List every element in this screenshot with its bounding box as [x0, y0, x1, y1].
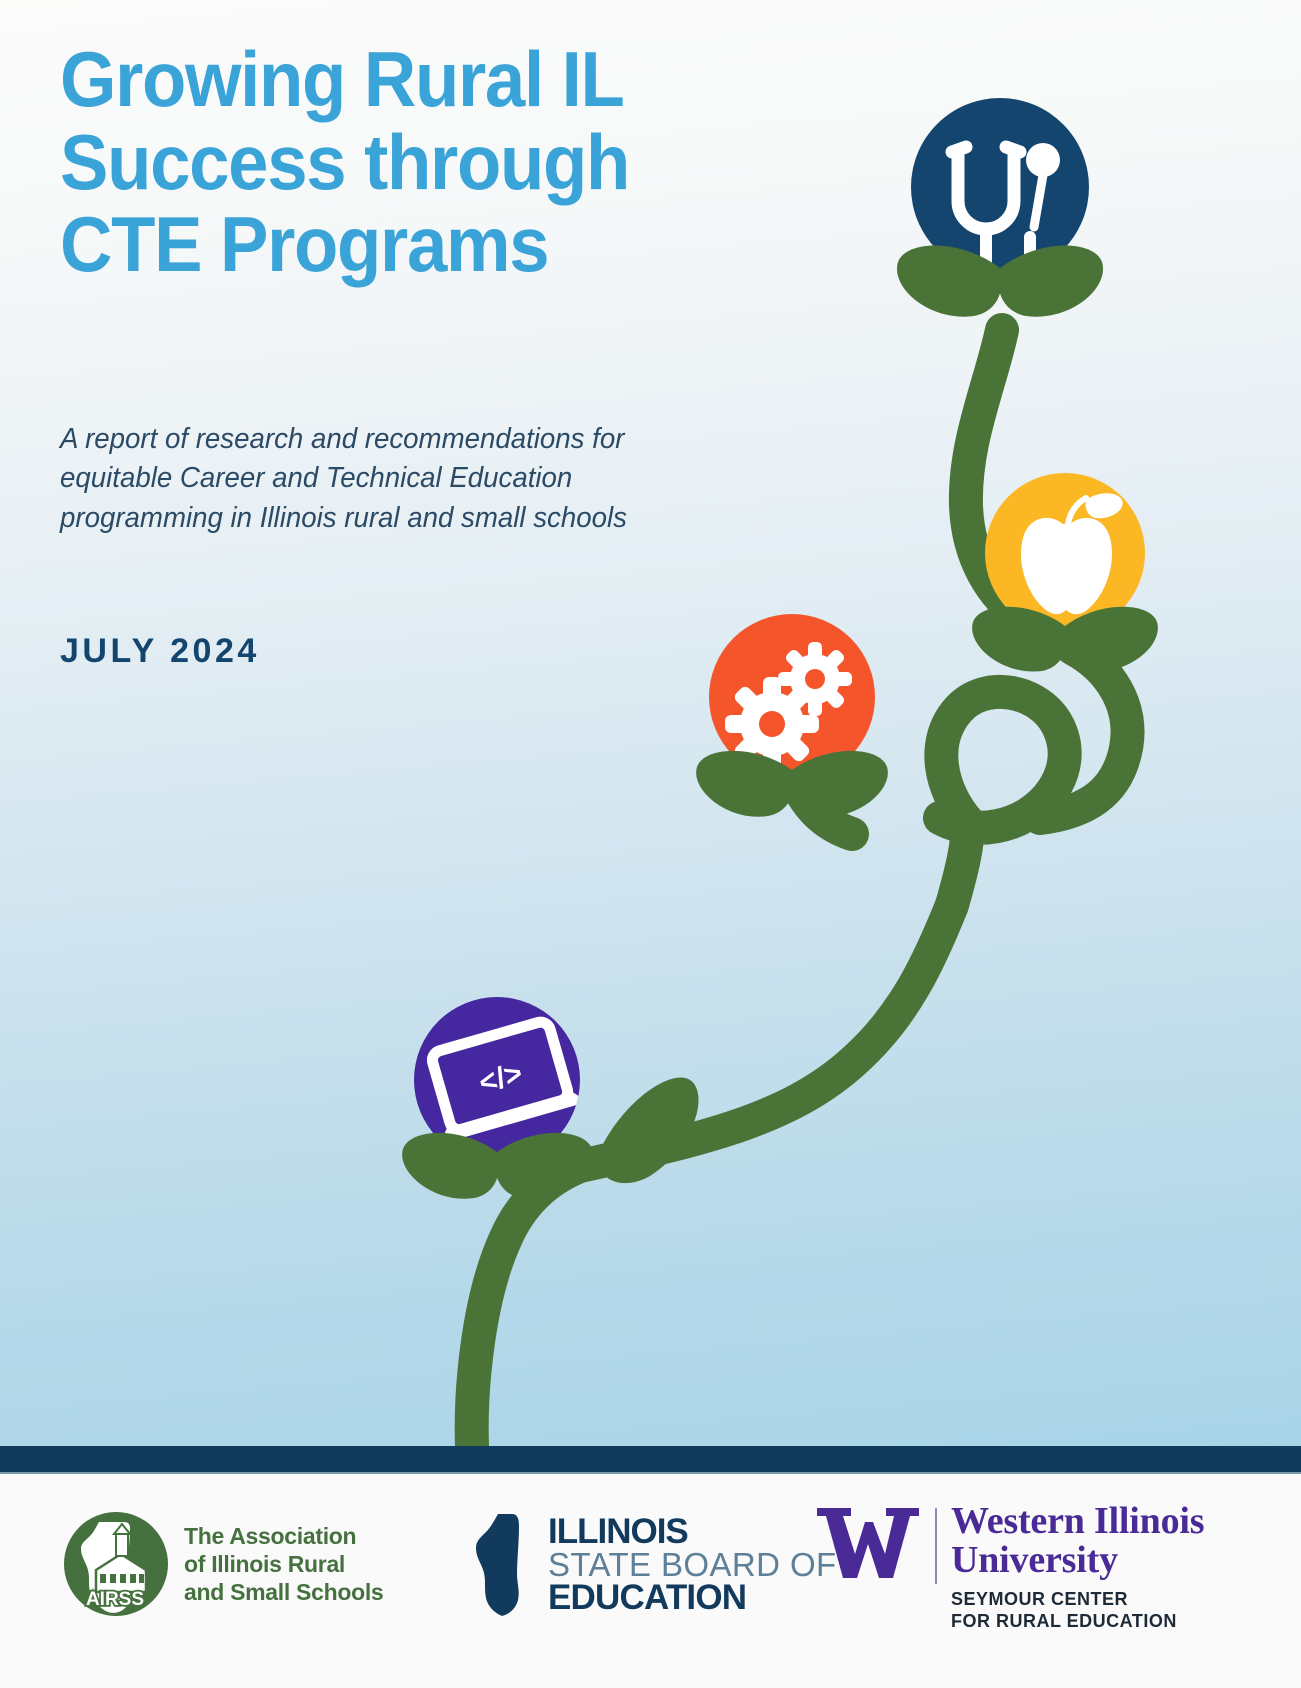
airss-seal-icon: AIRSS [62, 1510, 170, 1618]
wiu-text-block: Western Illinois University SEYMOUR CENT… [951, 1502, 1204, 1633]
isbe-line-3: EDUCATION [548, 1581, 837, 1615]
publication-date: JULY 2024 [60, 632, 260, 671]
logo-wiu[interactable]: Western Illinois University SEYMOUR CENT… [815, 1502, 1204, 1633]
bloom-health-careers [897, 98, 1103, 317]
report-cover-page: </> Growing Rural IL Success through CTE… [0, 0, 1301, 1688]
isbe-line-2: STATE BOARD OF [548, 1549, 837, 1581]
bloom-technology-careers: </> [402, 997, 593, 1199]
wiu-w-icon [815, 1502, 921, 1582]
wiu-divider-rule [935, 1508, 937, 1584]
isbe-wordmark: ILLINOIS STATE BOARD OF EDUCATION [548, 1515, 837, 1615]
logo-airss[interactable]: AIRSS The Association of Illinois Rural … [62, 1510, 383, 1618]
footer-divider-bar [0, 1446, 1301, 1474]
leaf-branch [599, 1077, 699, 1183]
airss-name: The Association of Illinois Rural and Sm… [184, 1522, 383, 1606]
page-subtitle: A report of research and recommendations… [60, 420, 855, 538]
cover-title-block: Growing Rural IL Success through CTE Pro… [60, 38, 860, 286]
wiu-center-name: SEYMOUR CENTER FOR RURAL EDUCATION [951, 1589, 1204, 1633]
logo-isbe[interactable]: ILLINOIS STATE BOARD OF EDUCATION [472, 1512, 837, 1618]
bloom-education-careers [972, 473, 1158, 672]
cover-hero: </> Growing Rural IL Success through CTE… [0, 0, 1301, 1446]
partner-logos: AIRSS The Association of Illinois Rural … [0, 1474, 1301, 1688]
wiu-university-name: Western Illinois University [951, 1502, 1204, 1580]
stem-main-lower [472, 1166, 580, 1446]
isbe-line-1: ILLINOIS [548, 1515, 837, 1549]
footer-logo-strip: AIRSS The Association of Illinois Rural … [0, 1474, 1301, 1688]
cover-subtitle-block: A report of research and recommendations… [60, 420, 880, 538]
illinois-state-outline-icon [472, 1512, 540, 1618]
svg-text:AIRSS: AIRSS [86, 1589, 144, 1610]
bloom-manufacturing-careers [696, 614, 888, 817]
page-title: Growing Rural IL Success through CTE Pro… [60, 38, 804, 286]
